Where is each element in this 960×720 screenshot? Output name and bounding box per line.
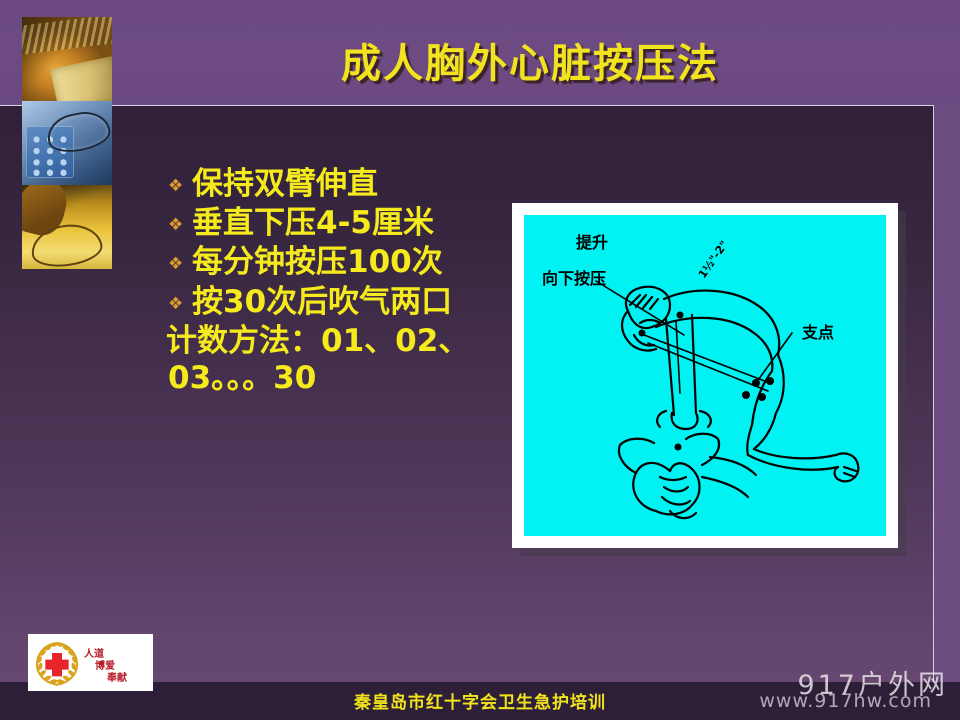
bullet-item-4: ❖ 按30次后吹气两口 bbox=[168, 284, 498, 321]
bullet-item-3-label: 每分钟按压100次 bbox=[192, 244, 498, 281]
photo-hand-writing-notes bbox=[22, 185, 112, 269]
illustration-label-press-down: 向下按压 bbox=[542, 265, 606, 289]
counting-method-note: 计数方法：01、02、03。。。30 bbox=[168, 323, 498, 397]
illustration-label-lift: 提升 bbox=[576, 229, 608, 253]
diamond-bullet-icon: ❖ bbox=[168, 205, 192, 234]
photo-calculator-and-glasses bbox=[22, 101, 112, 185]
illustration-label-pivot: 支点 bbox=[802, 319, 834, 343]
bullet-item-1: ❖ 保持双臂伸直 bbox=[168, 166, 498, 203]
red-cross-emblem-icon bbox=[32, 638, 82, 688]
bullet-item-3: ❖ 每分钟按压100次 bbox=[168, 244, 498, 281]
logo-motto-line-3: 奉献 bbox=[107, 669, 127, 684]
photo-hands-on-keyboard bbox=[22, 17, 112, 101]
footer-caption: 秦皇岛市红十字会卫生急护培训 bbox=[0, 688, 960, 713]
diamond-bullet-icon: ❖ bbox=[168, 284, 192, 313]
decorative-photo-strip bbox=[22, 17, 112, 269]
bullet-item-2: ❖ 垂直下压4-5厘米 bbox=[168, 205, 498, 242]
bullet-item-4-label: 按30次后吹气两口 bbox=[192, 284, 498, 321]
presentation-slide: 成人胸外心脏按压法 ❖ 保持双臂伸直 ❖ 垂直下压4-5厘米 ❖ 每分钟按压10… bbox=[0, 0, 960, 720]
bullet-item-2-label: 垂直下压4-5厘米 bbox=[192, 205, 498, 242]
diamond-bullet-icon: ❖ bbox=[168, 244, 192, 273]
logo-motto: 人道 博爱 奉献 bbox=[82, 638, 153, 688]
counting-method-label: 计数方法：01、02、03。。。30 bbox=[168, 323, 498, 397]
red-cross-logo: 人道 博爱 奉献 bbox=[28, 634, 153, 691]
slide-title: 成人胸外心脏按压法 bbox=[200, 44, 860, 84]
diamond-bullet-icon: ❖ bbox=[168, 166, 192, 195]
cpr-illustration-frame: 提升 向下按压 支点 1½"-2" bbox=[512, 203, 898, 548]
bullet-item-1-label: 保持双臂伸直 bbox=[192, 166, 498, 203]
bullet-list: ❖ 保持双臂伸直 ❖ 垂直下压4-5厘米 ❖ 每分钟按压100次 ❖ 按30次后… bbox=[168, 166, 498, 399]
cpr-illustration-canvas: 提升 向下按压 支点 1½"-2" bbox=[524, 215, 886, 536]
